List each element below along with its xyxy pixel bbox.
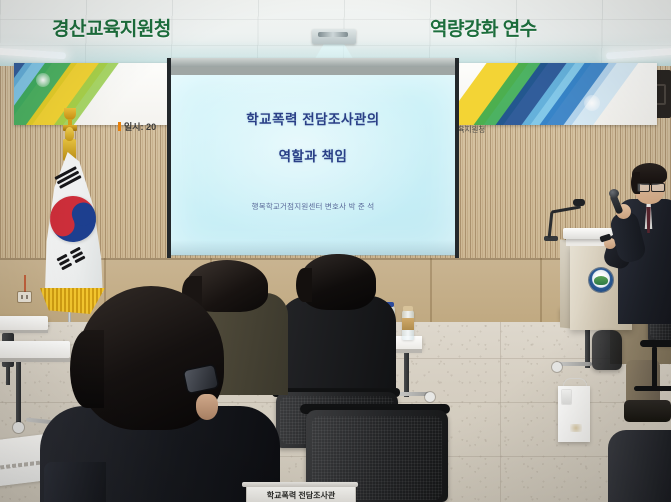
chair-post — [652, 346, 657, 390]
screen-casing — [168, 58, 458, 67]
slide-title-line2: 역할과 책임 — [171, 145, 455, 165]
bottle-cap — [403, 306, 413, 311]
name-card: 학교폭력 전담조사관 — [246, 486, 356, 502]
table-caster — [425, 392, 435, 402]
attendee-center-body — [278, 296, 396, 392]
banner-date-text: 일시: 20 — [124, 122, 156, 132]
screen-bottom-shadow — [171, 240, 455, 256]
chair-base — [634, 386, 671, 391]
bottle-label — [402, 318, 414, 330]
name-card-holder — [242, 482, 358, 487]
table-left-far — [0, 316, 48, 330]
attendee-center-hair-side — [296, 268, 312, 302]
table-edge — [0, 358, 70, 362]
outlet-cable — [24, 275, 26, 293]
slide-subtitle: 행복학교거점지원센터 변호사 박 준 석 — [171, 201, 455, 212]
banner-sparkle — [36, 73, 50, 87]
attendee-front-ear — [196, 394, 218, 420]
seminar-room-photo: 경산교육지원청 역량강화 연수 일시: 20 경산교육지원청 학교폭력 전담조사… — [0, 0, 671, 502]
education-office-emblem — [589, 268, 613, 292]
presenter-glasses-right — [651, 183, 665, 192]
screen-edge-right — [455, 58, 459, 258]
table-caster — [552, 362, 562, 372]
microphone-head — [609, 189, 619, 198]
projector-lens — [318, 32, 348, 37]
attendee-front-shoulder — [44, 462, 106, 502]
attendee-right-shoe — [624, 400, 671, 422]
bag-logo — [570, 424, 582, 432]
flag-finial — [65, 127, 74, 141]
floor-tile-line — [500, 322, 501, 502]
banner-sparkle — [584, 95, 600, 111]
banner-date-line: 일시: 20 — [118, 120, 156, 133]
screen-top-band — [168, 67, 458, 75]
table-caster — [13, 422, 24, 433]
attendee-rightedge-body — [608, 430, 671, 502]
table-leg — [404, 353, 409, 397]
table-leg — [16, 362, 21, 424]
panel-seam — [540, 258, 542, 324]
lectern-mic-head — [573, 199, 585, 206]
document-in-bag — [562, 390, 571, 404]
chair-far-right — [592, 330, 622, 370]
name-card-text: 학교폭력 전담조사관 — [267, 490, 335, 501]
presenter-glasses-left — [637, 183, 650, 192]
screen-glow — [171, 75, 455, 255]
lectern-mic-base — [544, 236, 558, 241]
banner-decoration-right — [442, 63, 657, 125]
table-base-rail — [558, 362, 592, 366]
table-left-mid — [0, 341, 70, 358]
banner-title-left: 경산교육지원청 — [52, 14, 171, 41]
attendee-front-hair-side — [70, 330, 104, 408]
banner-title-right: 역량강화 연수 — [430, 14, 537, 41]
panel-seam — [430, 258, 432, 324]
slide-title-line1: 학교폭력 전담조사관의 — [171, 108, 455, 128]
power-outlet — [18, 292, 31, 302]
